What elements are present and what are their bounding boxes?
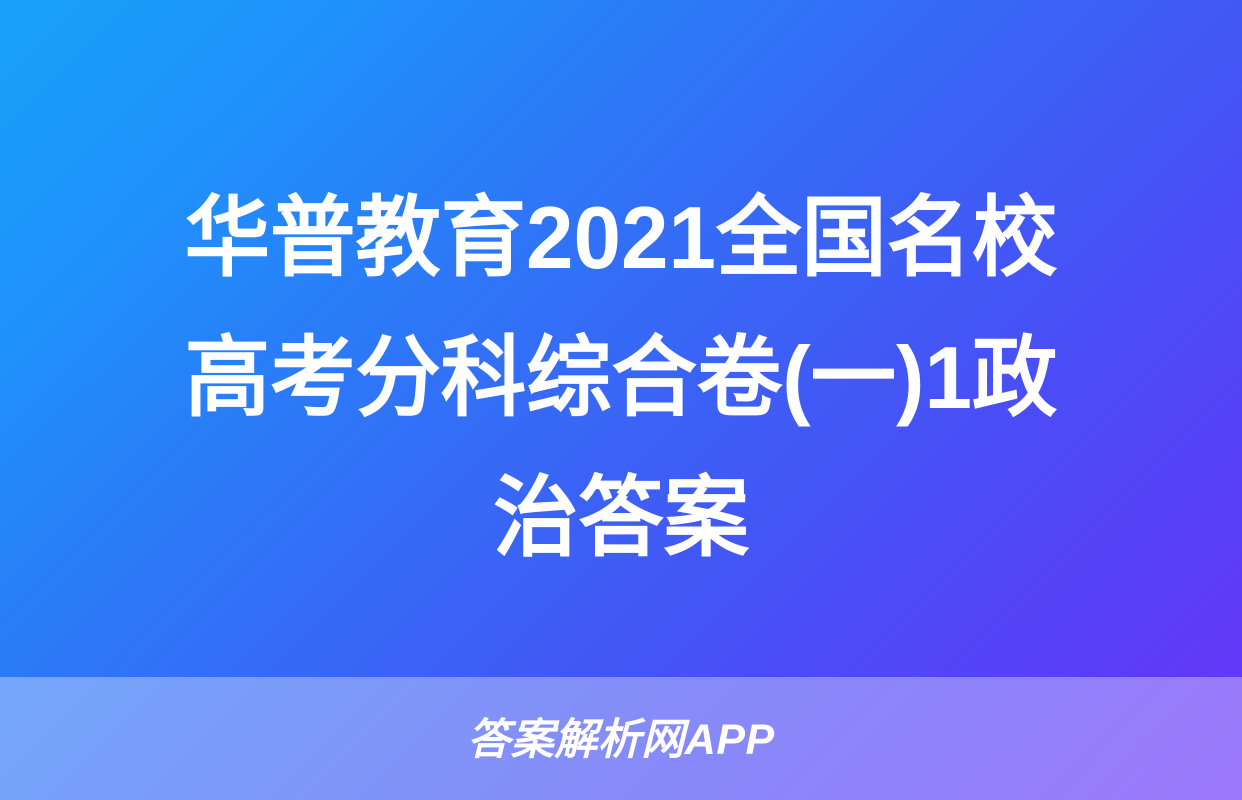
title-line-3: 治答案 xyxy=(79,448,1163,588)
title-line-1: 华普教育2021全国名校 xyxy=(79,168,1163,308)
poster-canvas: 华普教育2021全国名校 高考分科综合卷(一)1政 治答案 答案解析网APP xyxy=(0,0,1242,800)
title-line-2: 高考分科综合卷(一)1政 xyxy=(79,308,1163,448)
page-title: 华普教育2021全国名校 高考分科综合卷(一)1政 治答案 xyxy=(0,168,1242,588)
watermark-band: 答案解析网APP xyxy=(0,677,1242,800)
watermark-text: 答案解析网APP xyxy=(467,719,774,762)
